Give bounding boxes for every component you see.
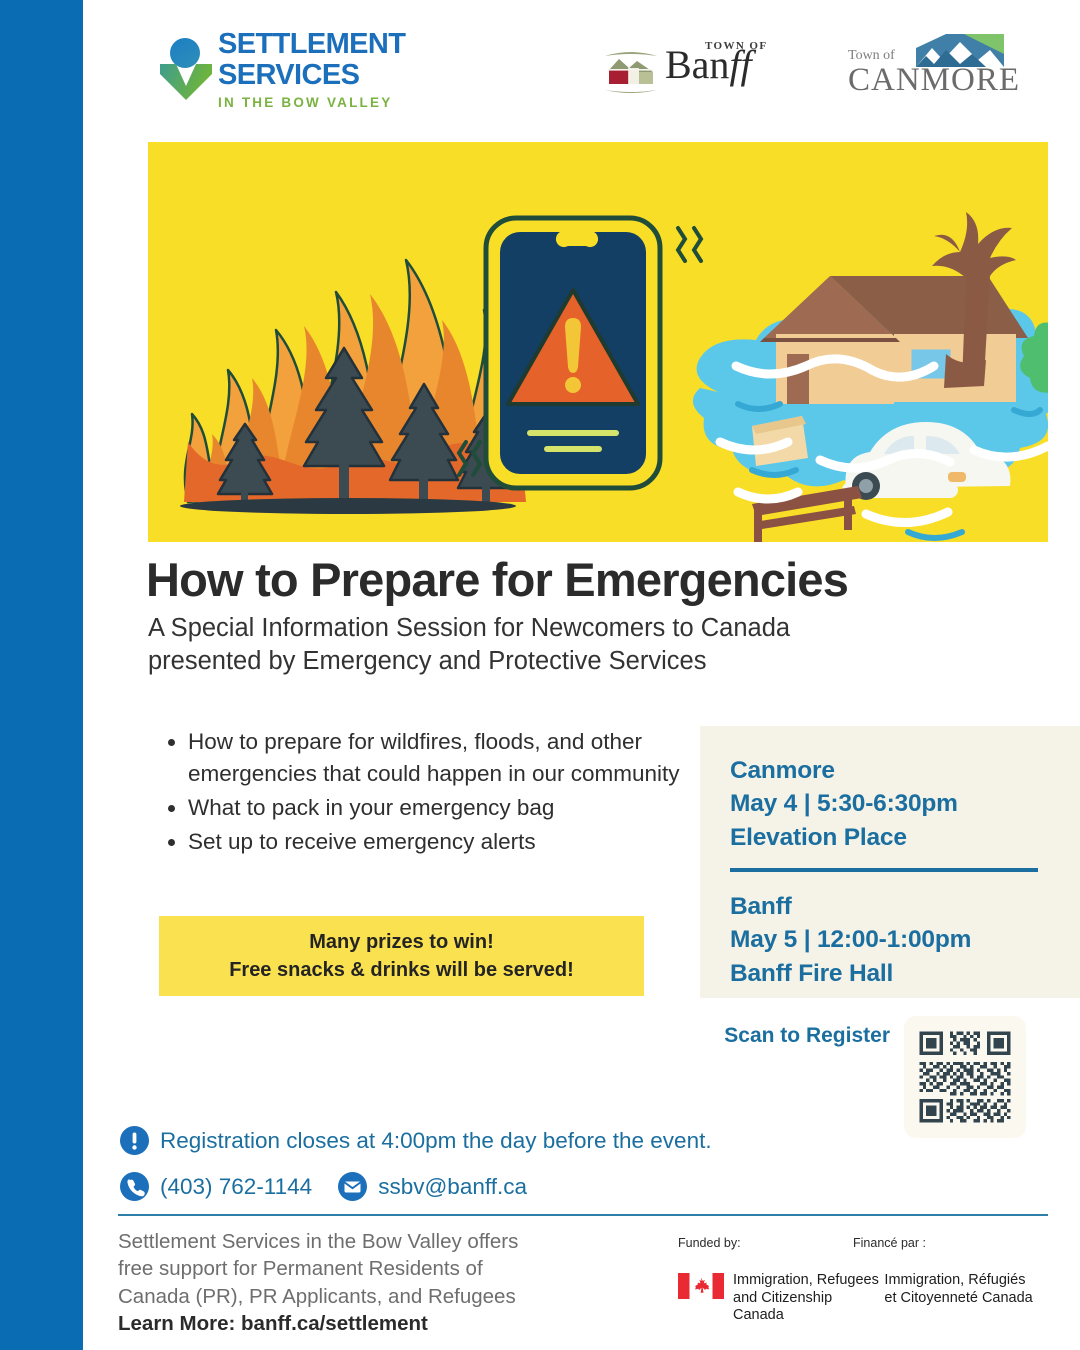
event-banff: Banff May 5 | 12:00-1:00pm Banff Fire Ha… xyxy=(730,890,1080,990)
prizes-callout-box: Many prizes to win! Free snacks & drinks… xyxy=(159,916,644,996)
footer-line-3: Canada (PR), PR Applicants, and Refugees xyxy=(118,1283,588,1310)
settlement-services-wordmark: SETTLEMENT SERVICES IN THE BOW VALLEY xyxy=(218,30,405,110)
logo-line-2: SERVICES xyxy=(218,61,405,90)
event-datetime: May 4 | 5:30-6:30pm xyxy=(730,787,1080,820)
logo-line-3: IN THE BOW VALLEY xyxy=(218,95,405,110)
town-of-banff-logo: TOWN OF Banff xyxy=(603,40,773,102)
phone-alert-group xyxy=(486,218,660,488)
settlement-services-mark-icon xyxy=(160,38,212,100)
funder-en-line-1: Immigration, Refugees xyxy=(733,1272,884,1290)
funder-fr-line-1: Immigration, Réfugiés xyxy=(884,1272,1048,1290)
funder-fr-line-2: et Citoyenneté Canada xyxy=(884,1290,1048,1308)
page-subtitle: A Special Information Session for Newcom… xyxy=(148,612,1028,678)
phone-icon xyxy=(120,1172,149,1201)
hero-artwork-icon xyxy=(148,142,1048,542)
subtitle-line-1: A Special Information Session for Newcom… xyxy=(148,612,1028,645)
prizes-line-1: Many prizes to win! xyxy=(309,928,493,956)
banff-wordmark: TOWN OF Banff xyxy=(665,40,767,84)
funded-by-headings: Funded by: Financé par : xyxy=(678,1236,1048,1250)
event-datetime: May 5 | 12:00-1:00pm xyxy=(730,923,1080,956)
event-details-card: Canmore May 4 | 5:30-6:30pm Elevation Pl… xyxy=(700,726,1080,998)
registration-notice-text: Registration closes at 4:00pm the day be… xyxy=(160,1128,712,1154)
logo-line-1: SETTLEMENT xyxy=(218,30,405,59)
event-canmore: Canmore May 4 | 5:30-6:30pm Elevation Pl… xyxy=(730,754,1080,854)
list-item: Set up to receive emergency alerts xyxy=(188,826,680,858)
hero-illustration xyxy=(148,142,1048,542)
list-item: What to pack in your emergency bag xyxy=(188,792,680,824)
learn-more-link[interactable]: Learn More: banff.ca/settlement xyxy=(118,1310,588,1337)
settlement-services-logo: SETTLEMENT SERVICES IN THE BOW VALLEY xyxy=(160,30,410,116)
funder-department-fr: Immigration, Réfugiés et Citoyenneté Can… xyxy=(884,1272,1048,1307)
canmore-name-label: CANMORE xyxy=(848,64,1020,97)
page-title: How to Prepare for Emergencies xyxy=(146,552,1046,607)
footer-description: Settlement Services in the Bow Valley of… xyxy=(118,1228,588,1337)
open-hands-icon xyxy=(160,64,212,100)
phone-number[interactable]: (403) 762-1144 xyxy=(160,1174,312,1200)
funder-logo-row: Immigration, Refugees and Citizenship Ca… xyxy=(678,1272,1048,1325)
banff-crest-icon xyxy=(603,48,659,94)
email-icon xyxy=(338,1172,367,1201)
town-of-canmore-logo: Town of CANMORE xyxy=(848,34,1008,104)
session-topics-list: How to prepare for wildfires, floods, an… xyxy=(160,726,680,860)
prizes-line-2: Free snacks & drinks will be served! xyxy=(229,956,574,984)
footer-divider xyxy=(118,1214,1048,1216)
event-venue: Elevation Place xyxy=(730,821,1080,854)
footer-line-2: free support for Permanent Residents of xyxy=(118,1255,588,1282)
event-divider xyxy=(730,868,1038,872)
contact-row: (403) 762-1144 ssbv@banff.ca xyxy=(120,1172,527,1201)
qr-code-icon xyxy=(916,1028,1014,1126)
exclamation-circle-icon xyxy=(120,1126,149,1155)
funded-by-en-label: Funded by: xyxy=(678,1236,853,1250)
funded-by-fr-label: Financé par : xyxy=(853,1236,926,1250)
funder-department-en: Immigration, Refugees and Citizenship Ca… xyxy=(733,1272,884,1325)
event-city: Canmore xyxy=(730,754,1080,787)
list-item: How to prepare for wildfires, floods, an… xyxy=(188,726,680,790)
scan-to-register-label: Scan to Register xyxy=(710,1024,890,1048)
funder-credits: Funded by: Financé par : Immigration, Re… xyxy=(678,1236,1048,1325)
canada-flag-icon xyxy=(678,1273,724,1299)
person-head-icon xyxy=(170,38,200,68)
email-address[interactable]: ssbv@banff.ca xyxy=(378,1174,527,1200)
event-venue: Banff Fire Hall xyxy=(730,957,1080,990)
registration-notice-row: Registration closes at 4:00pm the day be… xyxy=(120,1126,712,1155)
header-logo-row: SETTLEMENT SERVICES IN THE BOW VALLEY xyxy=(148,24,1048,120)
subtitle-line-2: presented by Emergency and Protective Se… xyxy=(148,645,1028,678)
funder-en-line-2: and Citizenship Canada xyxy=(733,1290,884,1325)
left-accent-bar xyxy=(0,0,83,1350)
footer-line-1: Settlement Services in the Bow Valley of… xyxy=(118,1228,588,1255)
poster-root: SETTLEMENT SERVICES IN THE BOW VALLEY xyxy=(0,0,1080,1350)
qr-code[interactable] xyxy=(904,1016,1026,1138)
event-city: Banff xyxy=(730,890,1080,923)
